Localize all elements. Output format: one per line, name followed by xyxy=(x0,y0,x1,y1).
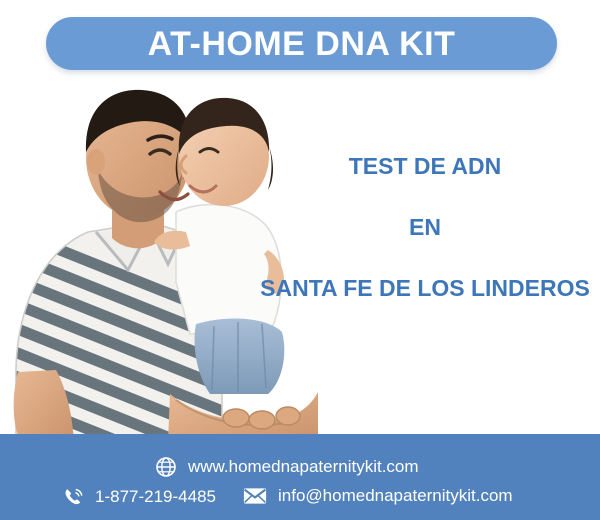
phone-icon xyxy=(62,486,84,508)
footer-phone-row[interactable]: 1-877-219-4485 xyxy=(62,486,216,508)
headline-line-3: SANTA FE DE LOS LINDEROS xyxy=(250,277,600,300)
headline-block: TEST DE ADN EN SANTA FE DE LOS LINDEROS xyxy=(250,155,600,300)
headline-line-2: EN xyxy=(250,216,600,239)
header-badge-label: AT-HOME DNA KIT xyxy=(148,27,456,61)
envelope-icon xyxy=(243,487,267,505)
footer-phone-label: 1-877-219-4485 xyxy=(95,487,216,507)
dna-kit-banner: AT-HOME DNA KIT xyxy=(0,0,600,520)
footer-email-row[interactable]: info@homednapaternitykit.com xyxy=(243,486,513,506)
footer-website-row[interactable]: www.homednapaternitykit.com xyxy=(155,456,419,478)
globe-icon xyxy=(155,456,177,478)
header-badge: AT-HOME DNA KIT xyxy=(46,17,557,70)
footer-email-label: info@homednapaternitykit.com xyxy=(278,486,513,506)
headline-line-1: TEST DE ADN xyxy=(250,155,600,178)
footer-website-label: www.homednapaternitykit.com xyxy=(188,457,419,477)
